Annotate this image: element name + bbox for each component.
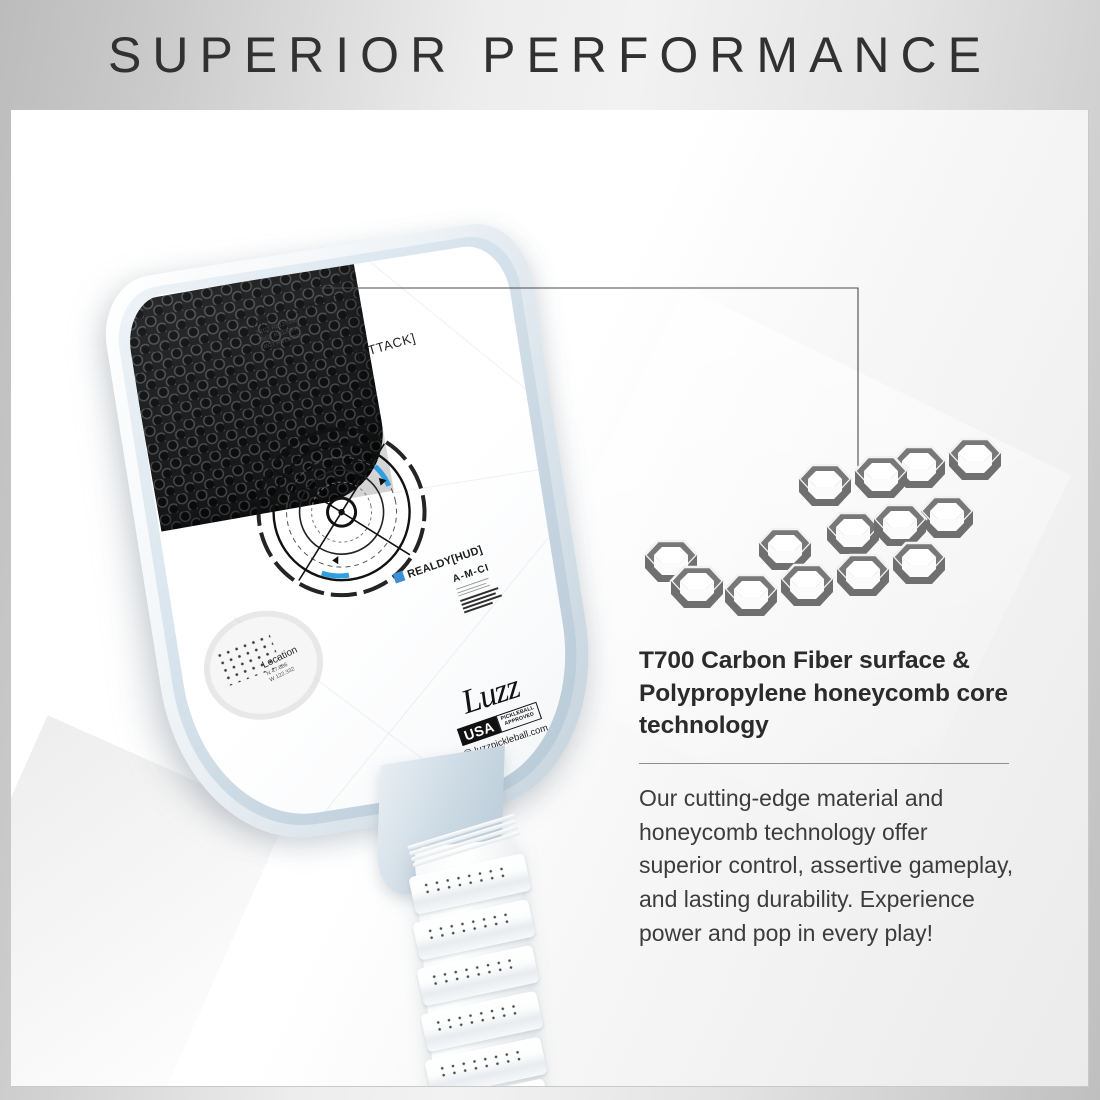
honeycomb-cells-icon — [631, 435, 1031, 635]
header-banner: SUPERIOR PERFORMANCE — [0, 0, 1100, 110]
infographic-root: SUPERIOR PERFORMANCE — [0, 0, 1100, 1100]
divider — [639, 763, 1009, 764]
feature-body: Our cutting-edge material and honeycomb … — [639, 782, 1017, 951]
page-title: SUPERIOR PERFORMANCE — [0, 26, 1100, 84]
blue-square-icon — [393, 571, 406, 584]
paddle-handle — [408, 838, 552, 1087]
content-panel: [ATTACK] — [11, 110, 1089, 1087]
feature-heading: T700 Carbon Fiber surface & Polypropylen… — [639, 645, 1017, 743]
honeycomb-core-illustration — [631, 435, 1031, 635]
feature-text-block: T700 Carbon Fiber surface & Polypropylen… — [639, 645, 1017, 951]
